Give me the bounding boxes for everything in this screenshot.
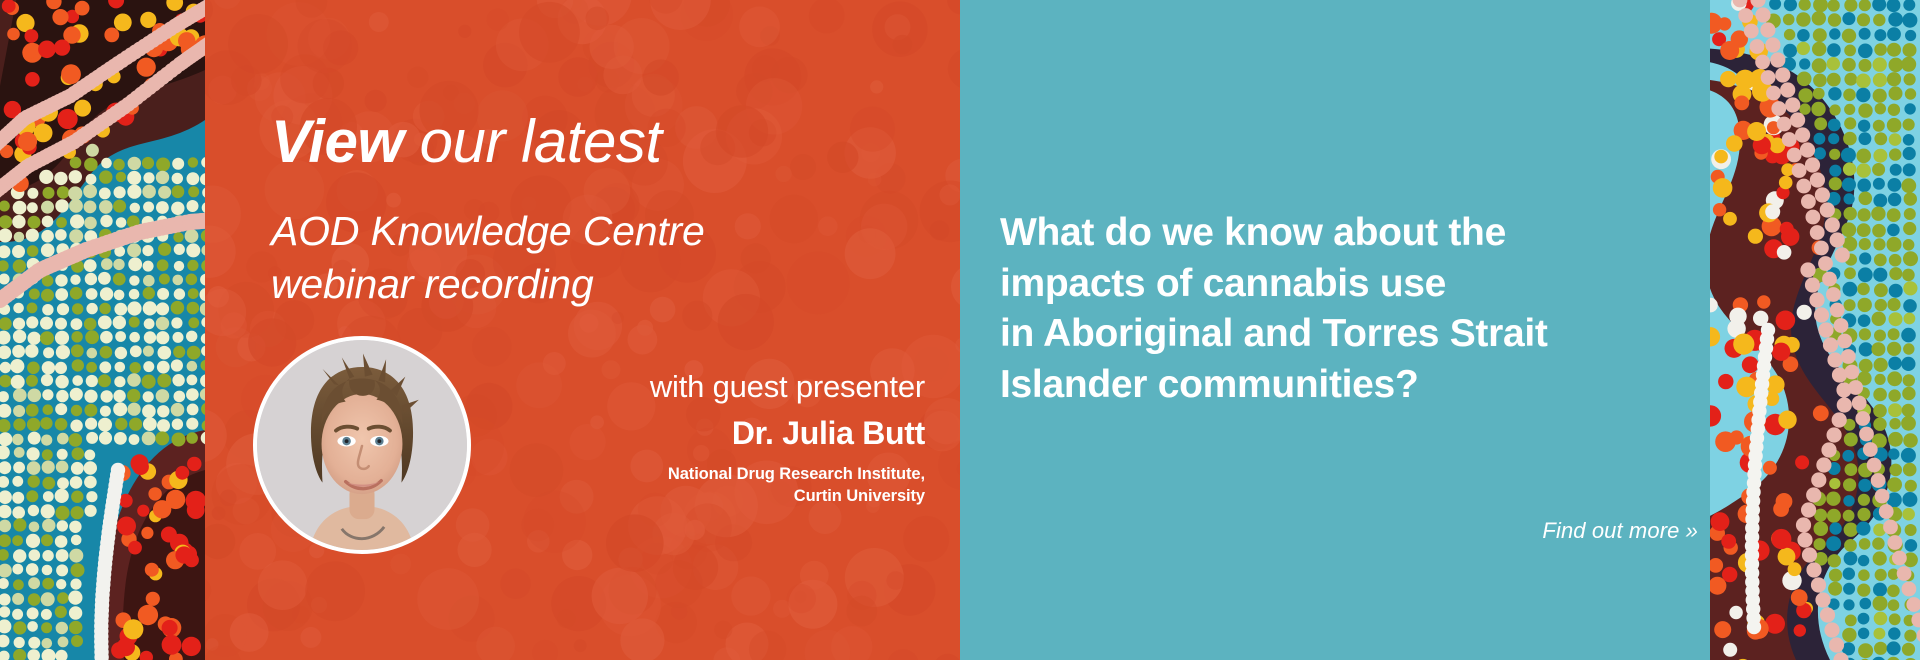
webinar-promo-banner: View our latest AOD Knowledge Centre web… <box>0 0 1920 660</box>
headline-primary: View our latest <box>271 112 661 172</box>
webinar-question-heading: What do we know about the impacts of can… <box>1000 208 1548 411</box>
teal-content-panel: What do we know about the impacts of can… <box>960 0 1710 660</box>
question-line-2: impacts of cannabis use <box>1000 259 1548 310</box>
headline-secondary-line-2: webinar recording <box>271 258 705 311</box>
question-line-1: What do we know about the <box>1000 208 1548 259</box>
presenter-affiliation: National Drug Research Institute, Curtin… <box>505 463 925 507</box>
dot-painting-right-artwork <box>1710 0 1920 660</box>
find-out-more-link[interactable]: Find out more » <box>1000 518 1698 544</box>
orange-content-panel: View our latest AOD Knowledge Centre web… <box>205 0 960 660</box>
presenter-lead-text: with guest presenter <box>505 370 925 405</box>
presenter-name: Dr. Julia Butt <box>505 413 925 453</box>
question-line-3: in Aboriginal and Torres Strait <box>1000 309 1548 360</box>
headline-emphasis: View <box>271 108 404 175</box>
aboriginal-art-panel-left <box>0 0 205 660</box>
dot-painting-left-artwork <box>0 0 205 660</box>
headline-rest: our latest <box>404 108 662 175</box>
presenter-photo <box>257 340 467 550</box>
presenter-avatar <box>253 336 471 554</box>
presenter-details: with guest presenter Dr. Julia Butt Nati… <box>505 370 925 507</box>
presenter-affiliation-line-1: National Drug Research Institute, <box>505 463 925 485</box>
question-line-4: Islander communities? <box>1000 360 1548 411</box>
headline-secondary-line-1: AOD Knowledge Centre <box>271 205 705 258</box>
headline-secondary: AOD Knowledge Centre webinar recording <box>271 205 705 312</box>
presenter-affiliation-line-2: Curtin University <box>505 485 925 507</box>
aboriginal-art-panel-right <box>1710 0 1920 660</box>
